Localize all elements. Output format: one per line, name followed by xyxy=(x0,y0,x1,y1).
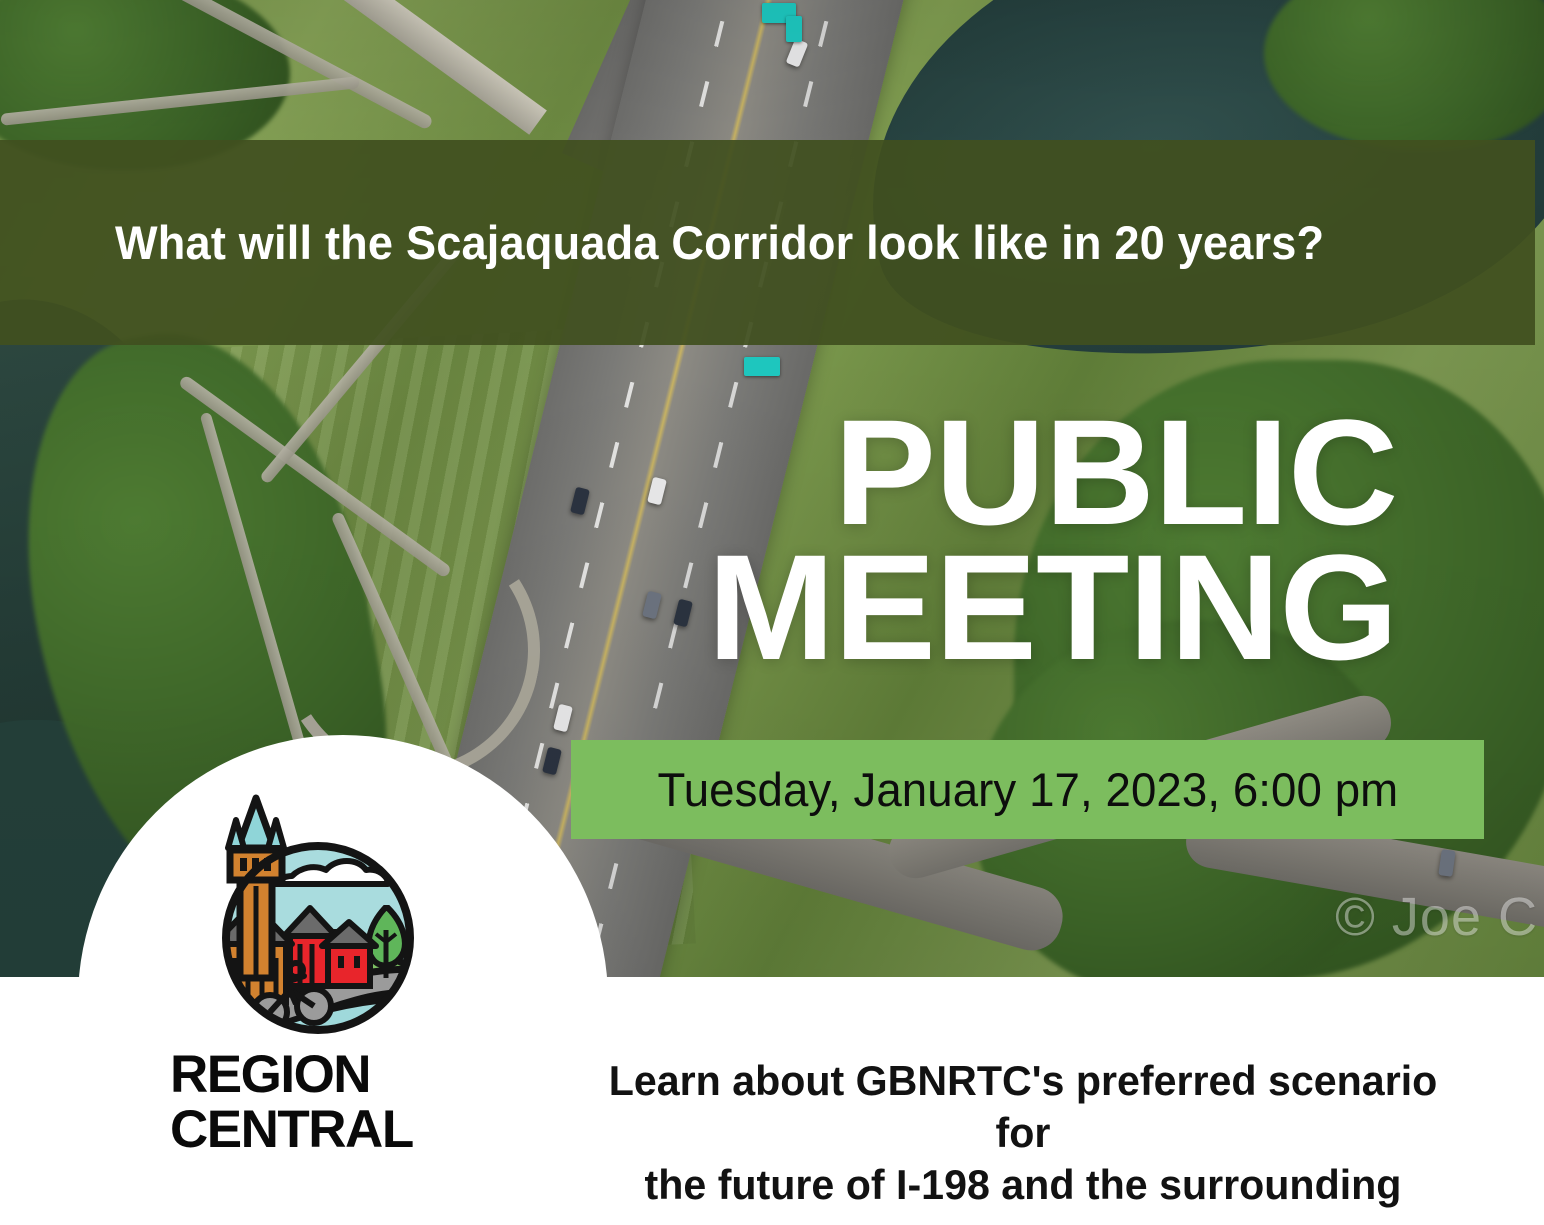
event-description-line-2: the future of I-198 and the surrounding … xyxy=(587,1159,1459,1225)
region-central-badge-icon xyxy=(178,790,438,1036)
event-title-line-2: MEETING xyxy=(707,540,1397,675)
event-title-line-1: PUBLIC xyxy=(707,405,1397,540)
event-description-line-1: Learn about GBNRTC's preferred scenario … xyxy=(587,1055,1459,1159)
region-central-logo xyxy=(178,790,438,1036)
event-description: Learn about GBNRTC's preferred scenario … xyxy=(578,1055,1468,1225)
event-title: PUBLIC MEETING xyxy=(721,405,1397,675)
logo-wordmark: REGION CENTRAL xyxy=(170,1048,470,1157)
headline-text: What will the Scajaquada Corridor look l… xyxy=(115,215,1324,270)
public-meeting-flyer: © Joe C What will the Scajaquada Corrido… xyxy=(0,0,1544,1225)
event-datetime-text: Tuesday, January 17, 2023, 6:00 pm xyxy=(657,762,1398,817)
logo-wordmark-line-1: REGION xyxy=(170,1048,470,1103)
headline-banner: What will the Scajaquada Corridor look l… xyxy=(0,140,1535,345)
date-banner: Tuesday, January 17, 2023, 6:00 pm xyxy=(571,740,1484,839)
logo-wordmark-line-2: CENTRAL xyxy=(170,1103,470,1158)
